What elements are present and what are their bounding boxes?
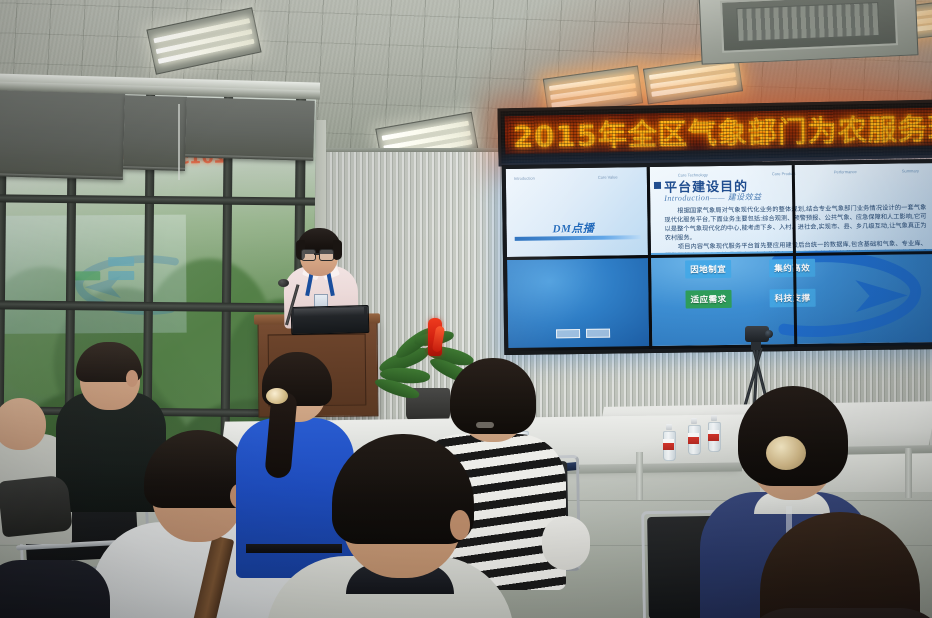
bottle-cap (691, 418, 697, 424)
table-leg (905, 448, 912, 498)
chip-reflection (108, 271, 134, 280)
bottle-cap (711, 415, 717, 421)
table-leg (636, 452, 643, 500)
video-wall[interactable]: Introduction Core Value DM点播 Core Techno… (502, 159, 932, 355)
camera-lens-icon (765, 330, 773, 338)
audience-belt (246, 544, 342, 553)
audience-head (0, 398, 46, 450)
video-wall-reflection-in-glass (0, 215, 187, 334)
speaker-glasses-lens-left (301, 249, 316, 261)
roller-blind[interactable] (185, 97, 315, 161)
bottle-label (688, 433, 699, 444)
bottle-label (708, 430, 719, 441)
audience-arm (542, 516, 590, 570)
water-bottle (708, 415, 719, 451)
conference-room-photo: 2015年全区气象部门为农服务现场推进会 Introduction Core V… (0, 0, 932, 618)
bag-on-chair (0, 474, 73, 537)
hair-bun-clip-icon (766, 436, 806, 470)
ac-vent-louvers (736, 2, 879, 42)
speaker-glasses-lens-right (319, 249, 334, 261)
audience-ear (450, 510, 470, 540)
hair-pin-icon (476, 422, 494, 428)
microphone-head (278, 279, 289, 287)
chip-reflection (108, 257, 134, 266)
speaker-hair-side (333, 240, 342, 260)
video-wall-glare (506, 163, 932, 351)
audience-ear (126, 370, 138, 387)
led-banner: 2015年全区气象部门为农服务现场推进会 (497, 100, 932, 167)
chip-reflection (74, 271, 100, 280)
blind-pull-cord[interactable] (178, 104, 180, 180)
led-pixel-grid (501, 103, 932, 164)
audience-hair-bun (738, 386, 848, 486)
water-bottle (663, 424, 674, 460)
bottle-cap (666, 424, 672, 430)
speaker-glasses-bridge (314, 253, 320, 255)
air-conditioner-unit (698, 0, 918, 65)
hair-clip-icon (266, 388, 288, 404)
audience-torso (0, 560, 110, 618)
bottle-label (663, 439, 674, 450)
water-bottle (688, 418, 699, 454)
roller-blind[interactable] (0, 90, 125, 180)
